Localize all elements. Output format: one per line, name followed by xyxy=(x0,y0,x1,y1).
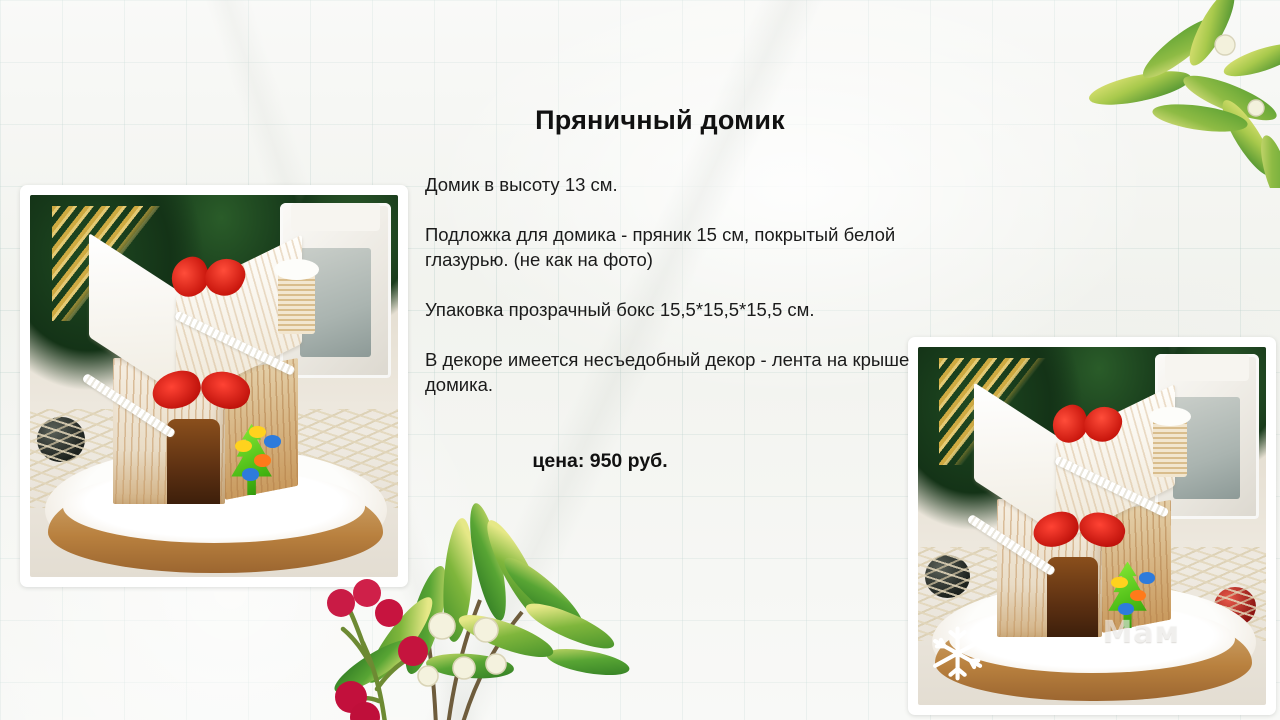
red-ribbon-bow-front-2 xyxy=(1033,513,1125,546)
red-ribbon-bow-roof xyxy=(171,258,244,296)
red-ribbon-bow-roof-2 xyxy=(1052,406,1121,442)
mistletoe-sprig-top-right xyxy=(1080,0,1280,188)
mistletoe-berries-tr xyxy=(1215,35,1264,116)
house-chimney-2 xyxy=(1153,419,1187,477)
description-paragraph-1: Домик в высоту 13 см. xyxy=(425,172,915,197)
photo-right-inner: Мам xyxy=(918,347,1266,705)
description-block: Домик в высоту 13 см. Подложка для домик… xyxy=(425,172,915,397)
gingerbread-house-2 xyxy=(974,415,1204,637)
gingerbread-house-photo-right[interactable]: Мам xyxy=(908,337,1276,715)
tree-dot-blue-b2 xyxy=(1139,572,1155,584)
description-paragraph-3: Упаковка прозрачный бокс 15,5*15,5*15,5 … xyxy=(425,297,915,322)
slide-canvas: Мам Пряничный домик Домик в высоту 13 см… xyxy=(0,0,1280,720)
berry-stems xyxy=(343,609,411,720)
gingerbread-house-photo-left[interactable] xyxy=(20,185,408,587)
house-chimney xyxy=(278,272,314,334)
mistletoe-leaves-tr xyxy=(1086,0,1280,188)
description-paragraph-4: В декоре имеется несъедобный декор - лен… xyxy=(425,347,915,397)
mistletoe-stems-bc xyxy=(422,600,522,720)
berry-fruits xyxy=(327,579,428,720)
tree-dot-yellow-b xyxy=(1111,577,1127,589)
tree-dot-blue xyxy=(242,468,259,480)
photo-left-scene xyxy=(30,195,398,577)
price-label: цена: 950 руб. xyxy=(425,450,775,473)
page-title: Пряничный домик xyxy=(425,105,895,136)
red-ribbon-bow-front xyxy=(152,372,249,408)
photo-watermark: Мам xyxy=(1102,619,1255,698)
description-paragraph-2: Подложка для домика - пряник 15 см, покр… xyxy=(425,222,915,272)
photo-right-scene: Мам xyxy=(918,347,1266,705)
red-berry-sprig-bottom-left xyxy=(315,565,455,720)
mistletoe-berries-bc xyxy=(418,613,506,686)
gingerbread-house xyxy=(89,268,332,505)
tree-dot-blue-2 xyxy=(264,435,281,447)
tree-dot-orange xyxy=(254,454,271,466)
photo-left-inner xyxy=(30,195,398,577)
tree-dot-yellow xyxy=(235,440,252,452)
